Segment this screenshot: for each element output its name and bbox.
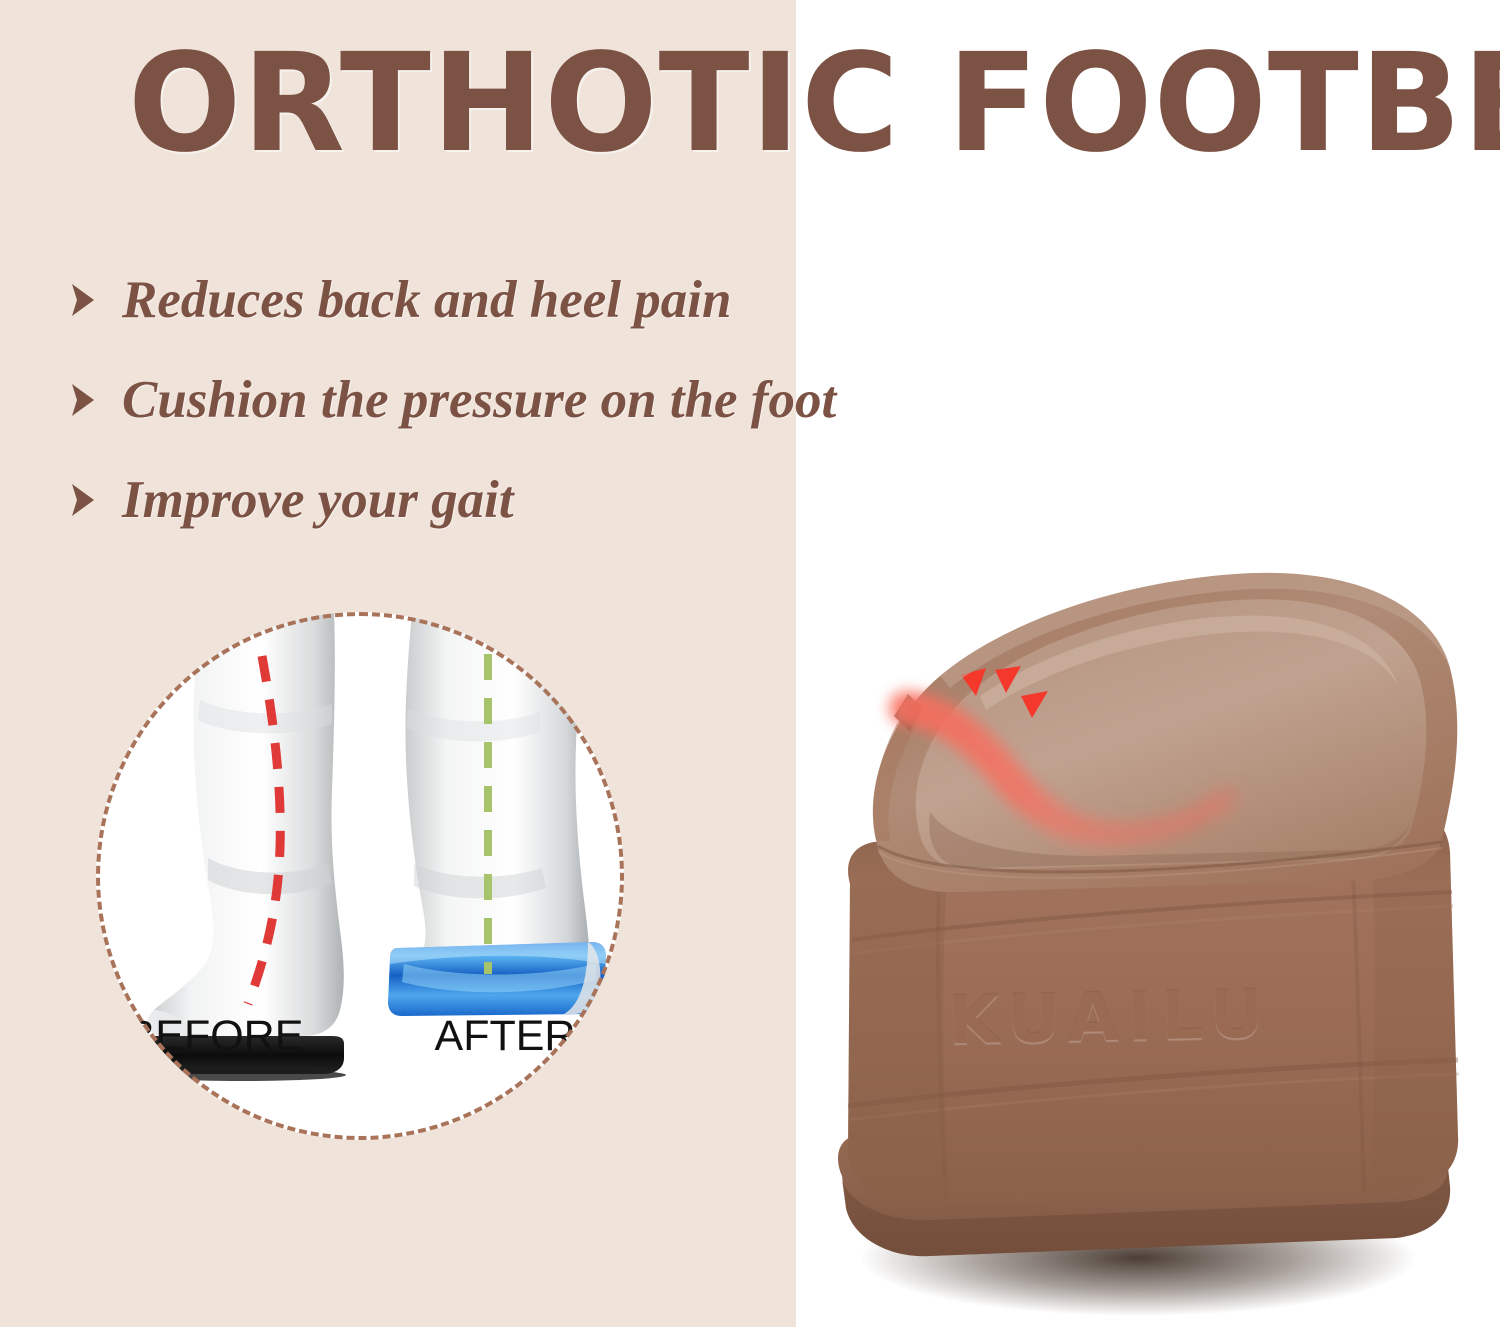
list-item: Improve your gait [70,450,1190,550]
triangle-right-icon [70,483,96,517]
benefit-label: Cushion the pressure on the foot [122,371,836,429]
list-item: Reduces back and heel pain [70,250,1190,350]
triangle-right-icon [70,383,96,417]
product-photo [790,540,1500,1327]
before-after-comparison: BEFORE AFTER [96,612,624,1140]
caption-after: AFTER [368,1010,624,1070]
after-foot-illustration [388,612,606,1016]
product-marketing-image: ORTHOTIC FOOTBED Reduces back and heel p… [0,0,1500,1327]
page-title: ORTHOTIC FOOTBED [128,34,1451,174]
before-after-captions: BEFORE AFTER [96,1010,624,1070]
benefit-label: Improve your gait [122,471,514,529]
benefit-label: Reduces back and heel pain [122,271,731,329]
list-item: Cushion the pressure on the foot [70,350,1190,450]
triangle-right-icon [70,283,96,317]
benefits-list: Reduces back and heel pain Cushion the p… [70,250,1190,550]
caption-before: BEFORE [96,1010,368,1070]
